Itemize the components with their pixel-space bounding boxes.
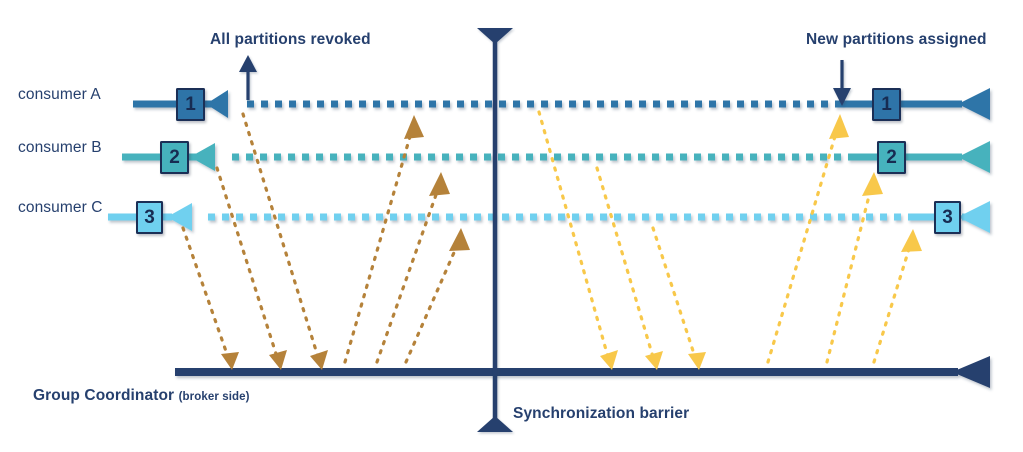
callout-arrow-revoked	[239, 55, 257, 100]
lane-c-right-arrowhead	[958, 201, 990, 233]
join-msg-from-b	[597, 168, 663, 370]
join-msg-from-c-line	[653, 228, 695, 357]
revoke-msg-from-c-head	[221, 352, 239, 370]
assign-msg-to-a-head	[829, 114, 849, 139]
lane-label-consumer-b: consumer B	[18, 139, 102, 157]
join-msg-from-c	[653, 228, 706, 370]
coordinator-arrowhead	[952, 356, 990, 388]
join-msg-from-a	[539, 112, 618, 370]
ack-msg-to-c	[406, 228, 470, 362]
assign-msg-to-c-line	[874, 249, 909, 362]
revoke-msg-from-c	[183, 228, 239, 370]
badge-consumer-a-right[interactable]: 1	[872, 88, 901, 121]
barrier-top-cap	[477, 28, 513, 44]
badge-consumer-c-left[interactable]: 3	[136, 201, 163, 234]
badge-consumer-b-left[interactable]: 2	[160, 141, 189, 174]
join-msg-from-b-line	[597, 168, 653, 357]
ack-msg-to-b-head	[429, 172, 450, 196]
join-msg-from-a-head	[600, 350, 618, 370]
coordinator-axis	[175, 356, 990, 388]
ack-msg-to-b	[377, 172, 450, 362]
barrier-label: Synchronization barrier	[513, 405, 689, 423]
callout-label-all-partitions-revoked: All partitions revoked	[210, 31, 371, 49]
assign-msg-to-a-line	[768, 133, 836, 362]
ack-msg-to-c-line	[406, 248, 456, 362]
ack-msg-to-a-line	[345, 133, 411, 362]
callout-arrow-assigned	[833, 60, 851, 106]
ack-msg-to-c-head	[449, 228, 470, 251]
lane-b-left-arrowhead	[190, 143, 215, 171]
join-msg-from-a-line	[539, 112, 608, 357]
badge-consumer-b-right[interactable]: 2	[877, 141, 906, 174]
lane-a-right-arrowhead	[958, 88, 990, 120]
assign-msg-to-c	[874, 229, 922, 362]
ack-msg-to-a-head	[404, 115, 424, 139]
badge-consumer-c-right[interactable]: 3	[934, 201, 961, 234]
join-messages-down	[539, 112, 706, 370]
assign-msg-to-b-line	[827, 192, 870, 362]
revoke-msg-from-a-line	[243, 114, 318, 357]
rebalance-diagram: All partitions revoked New partitions as…	[0, 0, 1023, 452]
join-msg-from-c-head	[688, 352, 706, 370]
callout-revoked-head	[239, 55, 257, 72]
join-msg-from-b-head	[645, 351, 663, 370]
coordinator-label-sub: (broker side)	[179, 391, 250, 403]
assign-msg-to-b	[827, 172, 883, 362]
barrier-bottom-cap	[477, 416, 513, 432]
coordinator-label-main: Group Coordinator	[33, 387, 174, 404]
ack-messages-up	[345, 115, 470, 362]
lane-b-right-arrowhead	[958, 141, 990, 173]
revoke-msg-from-c-line	[183, 228, 228, 357]
lane-label-consumer-a: consumer A	[18, 86, 101, 104]
callout-label-new-partitions-assigned: New partitions assigned	[806, 31, 987, 49]
lane-c-left-arrowhead	[167, 203, 192, 231]
lane-consumer-a	[133, 88, 990, 120]
revoke-msg-from-b	[217, 168, 287, 370]
assign-msg-to-c-head	[901, 229, 922, 252]
badge-consumer-a-left[interactable]: 1	[176, 88, 205, 121]
coordinator-label: Group Coordinator (broker side)	[33, 387, 250, 405]
lane-label-consumer-c: consumer C	[18, 199, 103, 217]
revoke-msg-from-b-head	[269, 350, 287, 370]
revoke-msg-from-a-head	[310, 350, 328, 370]
lane-consumer-c	[108, 201, 990, 233]
revoke-msg-from-a	[243, 114, 328, 370]
ack-msg-to-a	[345, 115, 424, 362]
assign-msg-to-b-head	[862, 172, 883, 196]
